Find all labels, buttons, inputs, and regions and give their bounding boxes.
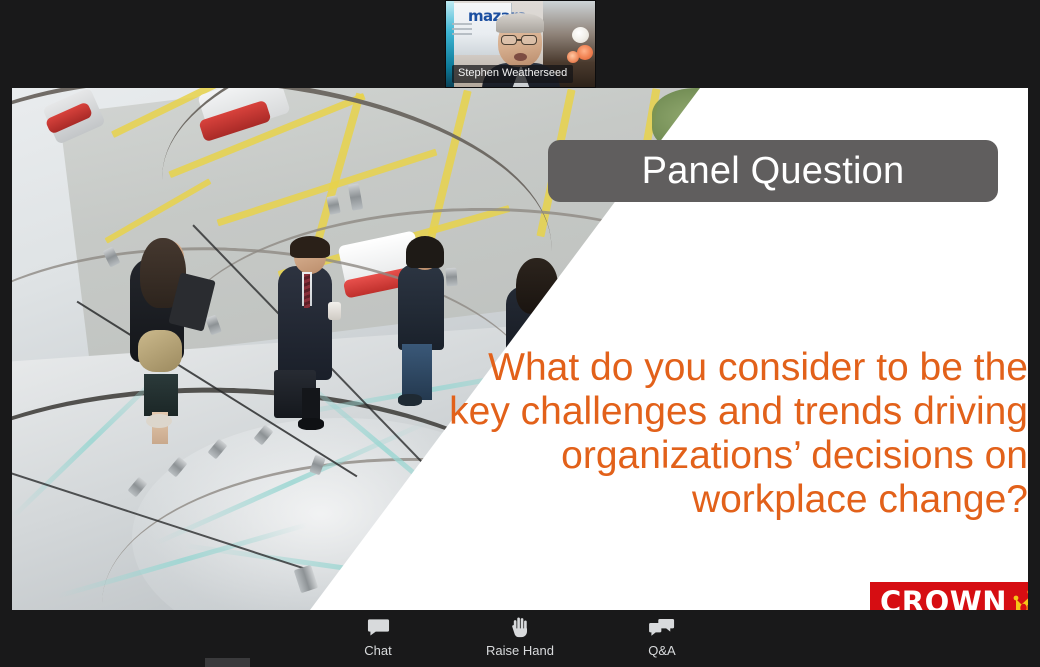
speaker-hair: [496, 13, 544, 33]
toolbar-label-raise-hand: Raise Hand: [486, 643, 554, 658]
raised-hand-icon: [510, 616, 530, 638]
toolbar-button-chat[interactable]: Chat: [335, 616, 421, 658]
rail-bracket: [445, 268, 457, 287]
monitor-content-lines: [452, 23, 472, 37]
coffee-cup: [328, 302, 341, 320]
taskbar-item[interactable]: [205, 658, 250, 667]
toolbar-label-chat: Chat: [364, 643, 391, 658]
toolbar-label-qa: Q&A: [648, 643, 675, 658]
panel-question-banner-label: Panel Question: [642, 150, 905, 193]
chat-bubble-icon: [367, 616, 390, 638]
panel-question-banner: Panel Question: [548, 140, 998, 202]
zoom-webinar-window: mazars Stephen Weatherseed: [0, 0, 1040, 667]
qa-bubbles-icon: [649, 616, 675, 638]
shoe: [146, 414, 172, 428]
background-flower-orange: [577, 45, 593, 60]
speaker-video-thumbnail[interactable]: mazars Stephen Weatherseed: [445, 0, 596, 88]
crown-logo: CROWN: [870, 582, 1028, 610]
person-torso: [398, 264, 444, 350]
person-hair: [290, 236, 330, 258]
crown-icon: [1013, 589, 1028, 610]
speaker-glasses-right-lens: [521, 35, 537, 45]
speaker-glasses-left-lens: [501, 35, 517, 45]
person-hair: [406, 236, 444, 268]
toolbar-button-qa[interactable]: Q&A: [619, 616, 705, 658]
meeting-toolbar: Chat Raise Hand: [0, 610, 1040, 667]
background-flower-white: [572, 27, 589, 43]
handbag: [138, 330, 182, 372]
speaker-name-label: Stephen Weatherseed: [452, 65, 573, 83]
shared-slide: Panel Question What do you consider to b…: [12, 88, 1028, 610]
speaker-mouth: [514, 53, 527, 61]
toolbar-button-raise-hand[interactable]: Raise Hand: [477, 616, 563, 658]
background-flower-peach: [567, 51, 579, 63]
speaker-glasses-bridge: [517, 39, 521, 41]
person-skirt: [144, 374, 178, 416]
necktie: [304, 274, 310, 308]
shoe: [298, 418, 324, 430]
shoe: [398, 394, 422, 406]
slide-question-text: What do you consider to be the key chall…: [428, 346, 1028, 522]
crown-logo-word: CROWN: [880, 588, 1007, 611]
